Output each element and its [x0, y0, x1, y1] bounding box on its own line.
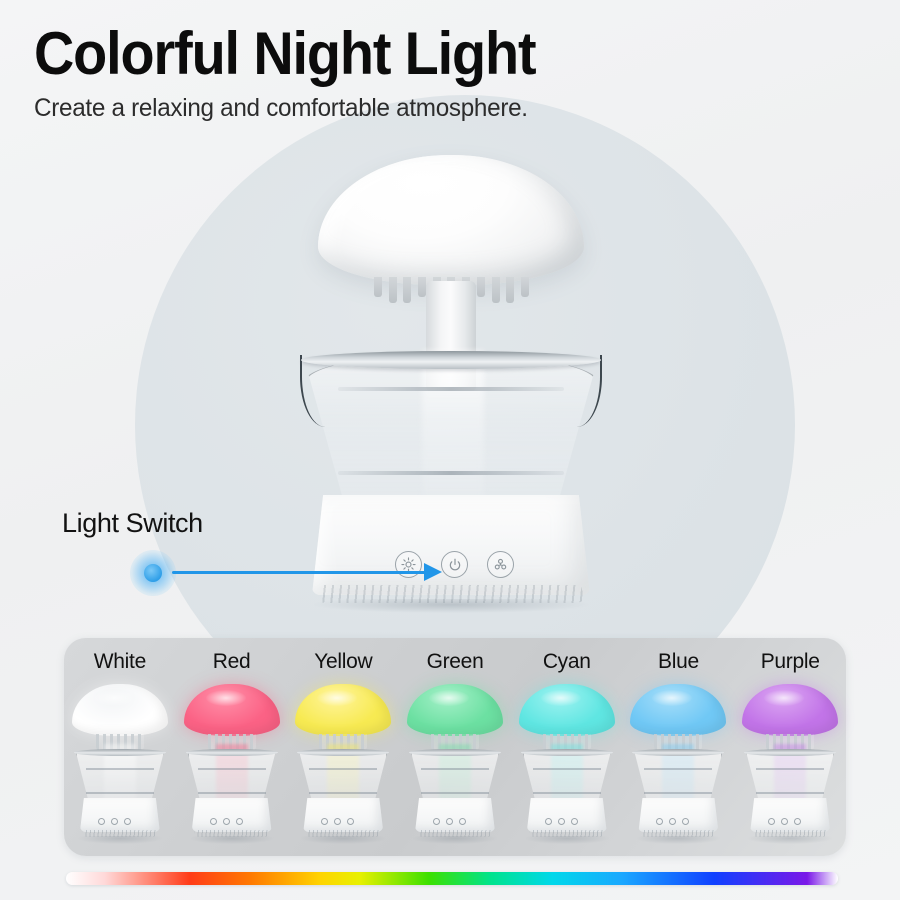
mini-light-button [210, 818, 217, 825]
mini-tank-rim [409, 749, 501, 756]
color-swatch-label: Blue [623, 650, 735, 674]
mini-mist-button [682, 818, 689, 825]
mist-button[interactable] [487, 551, 514, 578]
mini-mushroom-cap [519, 684, 615, 736]
mini-power-button [334, 818, 341, 825]
product-base [312, 495, 590, 595]
mini-product [180, 684, 284, 844]
color-swatch-label: Red [176, 650, 288, 674]
mini-light-button [433, 818, 440, 825]
page-subtitle: Create a relaxing and comfortable atmosp… [34, 94, 557, 123]
mini-controls [321, 818, 354, 825]
mini-shadow [78, 836, 162, 844]
color-swatch-purple[interactable]: Purple [734, 638, 846, 856]
mini-base [415, 798, 495, 832]
mini-mist-button [459, 818, 466, 825]
mini-mist-button [236, 818, 243, 825]
mini-tank-rim [297, 749, 389, 756]
mini-power-button [558, 818, 565, 825]
color-swatch-yellow[interactable]: Yellow [287, 638, 399, 856]
mini-product [515, 684, 619, 844]
mini-mushroom-cap [407, 684, 503, 736]
mini-mushroom-cap [295, 684, 391, 736]
color-swatch-list: WhiteRedYellowGreenCyanBluePurple [64, 638, 846, 856]
color-swatch-cyan[interactable]: Cyan [511, 638, 623, 856]
mini-shadow [748, 836, 832, 844]
mini-shadow [301, 836, 385, 844]
mini-base [303, 798, 383, 832]
mini-mist-button [571, 818, 578, 825]
power-icon [448, 558, 462, 572]
mini-mist-button [794, 818, 801, 825]
mini-controls [656, 818, 689, 825]
mini-product [626, 684, 730, 844]
control-panel [395, 551, 514, 578]
mini-mushroom-cap [72, 684, 168, 736]
mini-product [403, 684, 507, 844]
mushroom-cap [318, 155, 584, 285]
header: Colorful Night Light Create a relaxing a… [34, 22, 573, 123]
mini-base [750, 798, 830, 832]
mini-mushroom-cap [630, 684, 726, 736]
mini-mushroom-cap [184, 684, 280, 736]
light-switch-callout: Light Switch [62, 508, 203, 539]
light-switch-label: Light Switch [62, 508, 203, 539]
mini-mushroom-cap [742, 684, 838, 736]
mist-icon [493, 557, 508, 572]
color-swatch-white[interactable]: White [64, 638, 176, 856]
mini-power-button [781, 818, 788, 825]
color-swatch-label: White [64, 650, 176, 674]
color-swatch-blue[interactable]: Blue [623, 638, 735, 856]
mini-shadow [525, 836, 609, 844]
cap-highlight [376, 167, 496, 211]
mini-light-button [656, 818, 663, 825]
product-image [290, 155, 610, 625]
light-button[interactable] [395, 551, 422, 578]
mini-base [527, 798, 607, 832]
color-swatch-label: Purple [734, 650, 846, 674]
mini-light-button [98, 818, 105, 825]
mini-light-button [768, 818, 775, 825]
mini-light-button [321, 818, 328, 825]
mini-tank-rim [632, 749, 724, 756]
mini-controls [433, 818, 466, 825]
page-title: Colorful Night Light [34, 22, 535, 87]
sun-icon [401, 557, 416, 572]
callout-dot [130, 550, 176, 596]
callout-arrow-head [424, 563, 442, 581]
mini-controls [545, 818, 578, 825]
color-swatch-green[interactable]: Green [399, 638, 511, 856]
mini-product [68, 684, 172, 844]
mini-controls [210, 818, 243, 825]
mini-mist-button [347, 818, 354, 825]
mini-power-button [223, 818, 230, 825]
color-spectrum-bar [66, 872, 838, 885]
color-swatch-red[interactable]: Red [176, 638, 288, 856]
mini-controls [768, 818, 801, 825]
mini-product [738, 684, 842, 844]
mini-shadow [413, 836, 497, 844]
mini-base [80, 798, 160, 832]
mini-shadow [636, 836, 720, 844]
mini-base [192, 798, 272, 832]
mini-tank-rim [521, 749, 613, 756]
mini-power-button [111, 818, 118, 825]
product-shadow [314, 599, 588, 613]
mini-shadow [190, 836, 274, 844]
mini-product [291, 684, 395, 844]
mini-power-button [669, 818, 676, 825]
power-button[interactable] [441, 551, 468, 578]
color-swatch-label: Green [399, 650, 511, 674]
mini-light-button [545, 818, 552, 825]
water-tank [304, 355, 598, 507]
tank-rim [301, 351, 601, 369]
mini-controls [98, 818, 131, 825]
mini-tank-rim [744, 749, 836, 756]
color-swatch-label: Yellow [287, 650, 399, 674]
mini-tank-rim [186, 749, 278, 756]
mist-plume [422, 351, 484, 501]
callout-arrow-line [172, 571, 426, 574]
color-swatch-panel: WhiteRedYellowGreenCyanBluePurple [64, 638, 846, 856]
mini-mist-button [124, 818, 131, 825]
mini-tank-rim [74, 749, 166, 756]
mini-base [638, 798, 718, 832]
color-swatch-label: Cyan [511, 650, 623, 674]
mini-power-button [446, 818, 453, 825]
